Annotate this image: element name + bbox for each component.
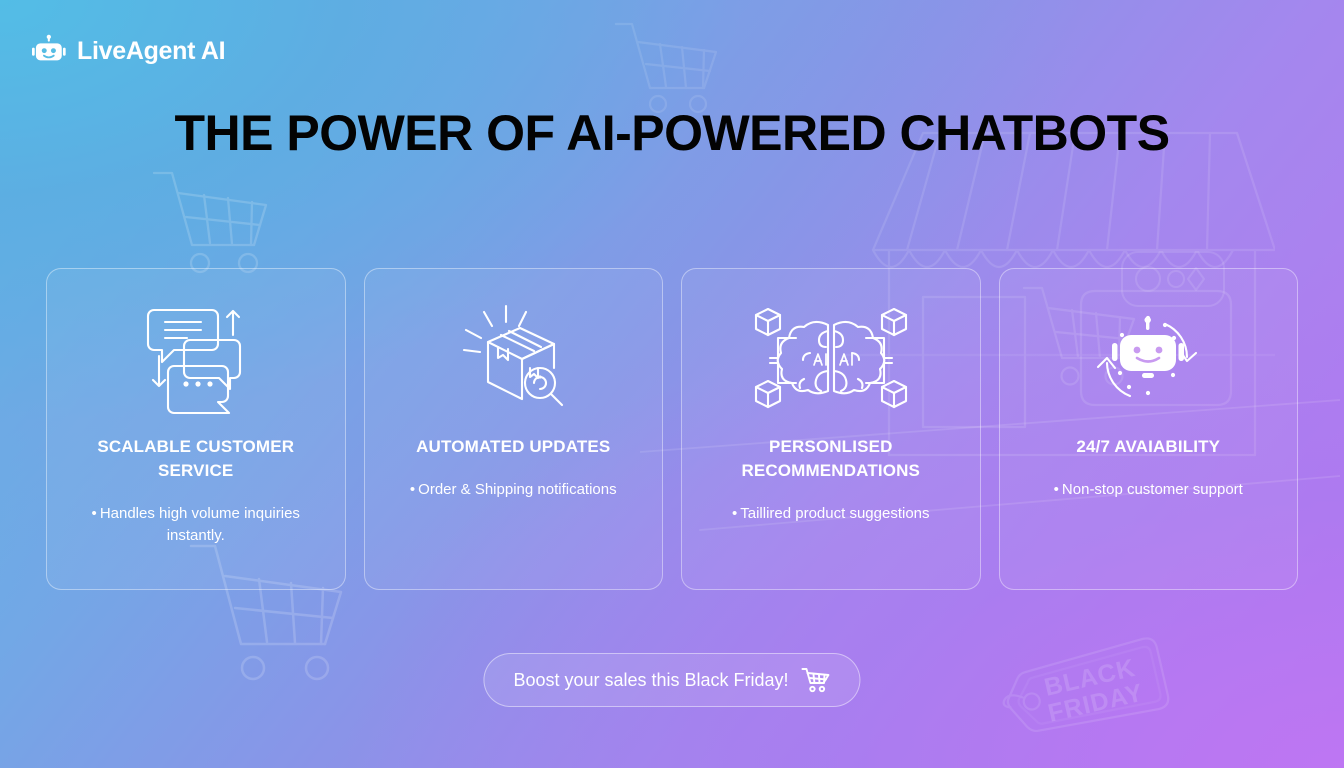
page-title: THE POWER OF AI-POWERED CHATBOTS [0, 104, 1344, 163]
brand-name: LiveAgent AI [77, 37, 225, 66]
card-title: PERSONLISED RECOMMENDATIONS [696, 435, 966, 483]
card-icon-container [748, 291, 914, 429]
bullet-marker: • [732, 505, 737, 522]
brain-network-icon [748, 301, 914, 419]
card-title: SCALABLE CUSTOMER SERVICE [61, 435, 331, 483]
feature-card-availability[interactable]: 24/7 AVAIABILITY •Non-stop customer supp… [999, 268, 1299, 590]
card-body: •Handles high volume inquiries instantly… [61, 503, 331, 547]
card-icon-container [140, 291, 252, 429]
bullet-marker: • [410, 481, 415, 498]
robot-head-icon [32, 34, 66, 68]
chat-bubbles-icon [140, 300, 252, 420]
shopping-cart-icon [801, 666, 831, 694]
card-icon-container [454, 291, 572, 429]
feature-card-scalable-customer-service[interactable]: SCALABLE CUSTOMER SERVICE •Handles high … [46, 268, 346, 590]
card-title: AUTOMATED UPDATES [416, 435, 610, 459]
card-body-text: Non-stop customer support [1062, 481, 1243, 498]
robot-refresh-icon [1085, 305, 1211, 415]
bullet-marker: • [1054, 481, 1059, 498]
card-body-text: Handles high volume inquiries instantly. [100, 505, 300, 544]
card-icon-container [1085, 291, 1211, 429]
card-body: •Order & Shipping notifications [406, 479, 621, 501]
feature-card-automated-updates[interactable]: AUTOMATED UPDATES •Order & Shipping noti… [364, 268, 664, 590]
feature-cards: SCALABLE CUSTOMER SERVICE •Handles high … [46, 268, 1298, 590]
card-body-text: Order & Shipping notifications [418, 481, 616, 498]
card-body: •Taillired product suggestions [728, 503, 934, 525]
cta-button[interactable]: Boost your sales this Black Friday! [483, 653, 860, 707]
bullet-marker: • [92, 505, 97, 522]
cta-label: Boost your sales this Black Friday! [513, 670, 788, 691]
card-body-text: Taillired product suggestions [740, 505, 929, 522]
package-search-icon [454, 300, 572, 420]
feature-card-personlised-recommendations[interactable]: PERSONLISED RECOMMENDATIONS •Taillired p… [681, 268, 981, 590]
card-title: 24/7 AVAIABILITY [1076, 435, 1220, 459]
card-body: •Non-stop customer support [1050, 479, 1247, 501]
brand-logo[interactable]: LiveAgent AI [32, 34, 225, 68]
